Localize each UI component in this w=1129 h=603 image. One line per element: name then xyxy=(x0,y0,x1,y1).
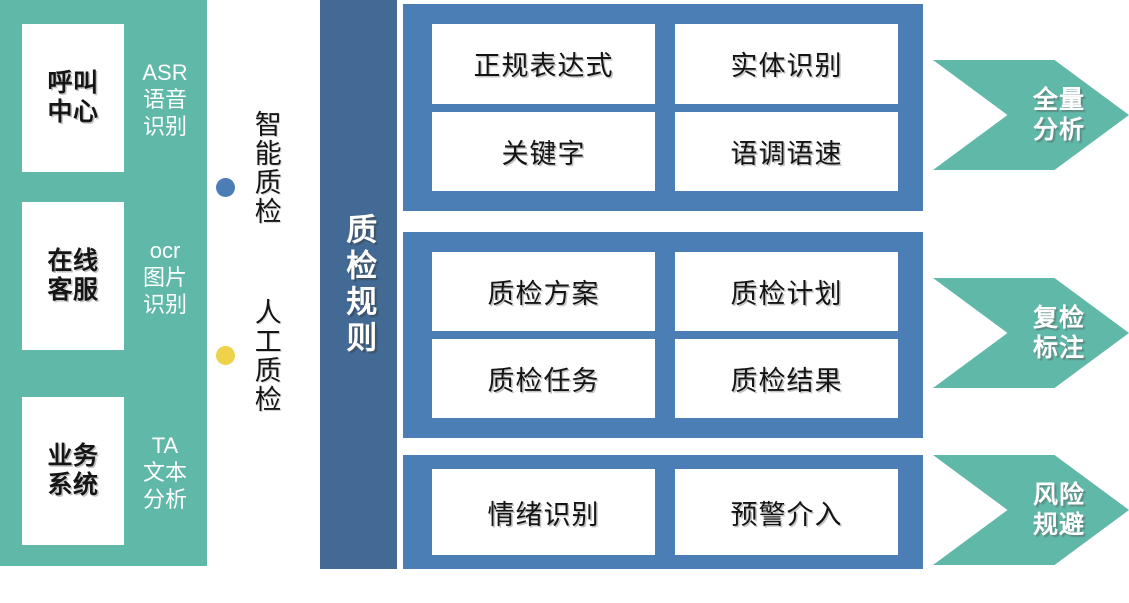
capability-label: 正规表达式 xyxy=(474,44,614,83)
bullet-dot-yellow xyxy=(216,346,235,365)
grid-spacer xyxy=(655,112,675,192)
capability-label: 关键字 xyxy=(502,132,586,171)
outcome-arrow[interactable]: 风险 规避 xyxy=(933,455,1129,565)
inspection-mode-intelligent[interactable]: 智能质检 xyxy=(216,110,316,230)
capability-cell[interactable]: 实体识别 xyxy=(675,24,898,104)
outcome-arrow[interactable]: 复检 标注 xyxy=(933,278,1129,388)
outcome-label: 全量 分析 xyxy=(1033,85,1085,145)
source-tech-label: TA 文本 分析 xyxy=(130,433,200,513)
capability-cell[interactable]: 质检方案 xyxy=(432,252,655,331)
outcome-arrow[interactable]: 全量 分析 xyxy=(933,60,1129,170)
outcome-label: 风险 规避 xyxy=(1033,480,1085,540)
quality-rules-label: 质检规则 xyxy=(342,213,375,357)
capability-cell[interactable]: 语调语速 xyxy=(675,112,898,192)
bullet-dot-blue xyxy=(216,178,235,197)
capability-cell[interactable]: 正规表达式 xyxy=(432,24,655,104)
grid-spacer xyxy=(655,24,675,104)
source-name-label: 呼叫 中心 xyxy=(47,69,98,128)
source-name-label: 业务 系统 xyxy=(47,442,98,501)
source-name-label: 在线 客服 xyxy=(47,247,98,306)
outcome-label: 复检 标注 xyxy=(1033,303,1085,363)
source-row: 呼叫 中心 ASR 语音 识别 xyxy=(0,24,207,172)
quality-rules-bar[interactable]: 质检规则 xyxy=(320,0,397,569)
data-sources-column: 呼叫 中心 ASR 语音 识别 在线 客服 ocr 图片 识别 业务 系统 TA… xyxy=(0,0,207,566)
source-row: 在线 客服 ocr 图片 识别 xyxy=(0,202,207,350)
source-box[interactable]: 业务 系统 xyxy=(22,397,124,545)
capability-label: 质检结果 xyxy=(731,359,843,398)
capability-panel: 正规表达式 实体识别 关键字 语调语速 xyxy=(403,4,923,211)
source-tech-label: ocr 图片 识别 xyxy=(130,238,200,318)
capability-label: 预警介入 xyxy=(731,493,843,532)
capability-label: 质检任务 xyxy=(488,359,600,398)
capability-cell[interactable]: 情绪识别 xyxy=(432,469,655,555)
capability-cell[interactable]: 质检计划 xyxy=(675,252,898,331)
capability-label: 实体识别 xyxy=(731,44,843,83)
inspection-mode-manual[interactable]: 人工质检 xyxy=(216,298,316,438)
capability-label: 质检方案 xyxy=(488,272,600,311)
capability-cell[interactable]: 质检结果 xyxy=(675,339,898,418)
diagram-canvas: 呼叫 中心 ASR 语音 识别 在线 客服 ocr 图片 识别 业务 系统 TA… xyxy=(0,0,1129,603)
capability-cell[interactable]: 预警介入 xyxy=(675,469,898,555)
capability-label: 情绪识别 xyxy=(488,493,600,532)
grid-spacer xyxy=(655,252,675,331)
capability-panel: 质检方案 质检计划 质检任务 质检结果 xyxy=(403,232,923,438)
source-box[interactable]: 在线 客服 xyxy=(22,202,124,350)
capability-grid: 质检方案 质检计划 质检任务 质检结果 xyxy=(432,252,898,418)
inspection-mode-label: 智能质检 xyxy=(250,110,280,226)
capability-cell[interactable]: 关键字 xyxy=(432,112,655,192)
source-row: 业务 系统 TA 文本 分析 xyxy=(0,397,207,545)
capability-grid: 情绪识别 预警介入 xyxy=(432,469,898,555)
capability-panel: 情绪识别 预警介入 xyxy=(403,455,923,569)
capability-cell[interactable]: 质检任务 xyxy=(432,339,655,418)
grid-spacer xyxy=(655,339,675,418)
grid-spacer xyxy=(655,469,675,555)
capability-label: 语调语速 xyxy=(731,132,843,171)
capability-label: 质检计划 xyxy=(731,272,843,311)
source-box[interactable]: 呼叫 中心 xyxy=(22,24,124,172)
inspection-mode-label: 人工质检 xyxy=(250,298,280,414)
source-tech-label: ASR 语音 识别 xyxy=(130,60,200,140)
capability-grid: 正规表达式 实体识别 关键字 语调语速 xyxy=(432,24,898,191)
